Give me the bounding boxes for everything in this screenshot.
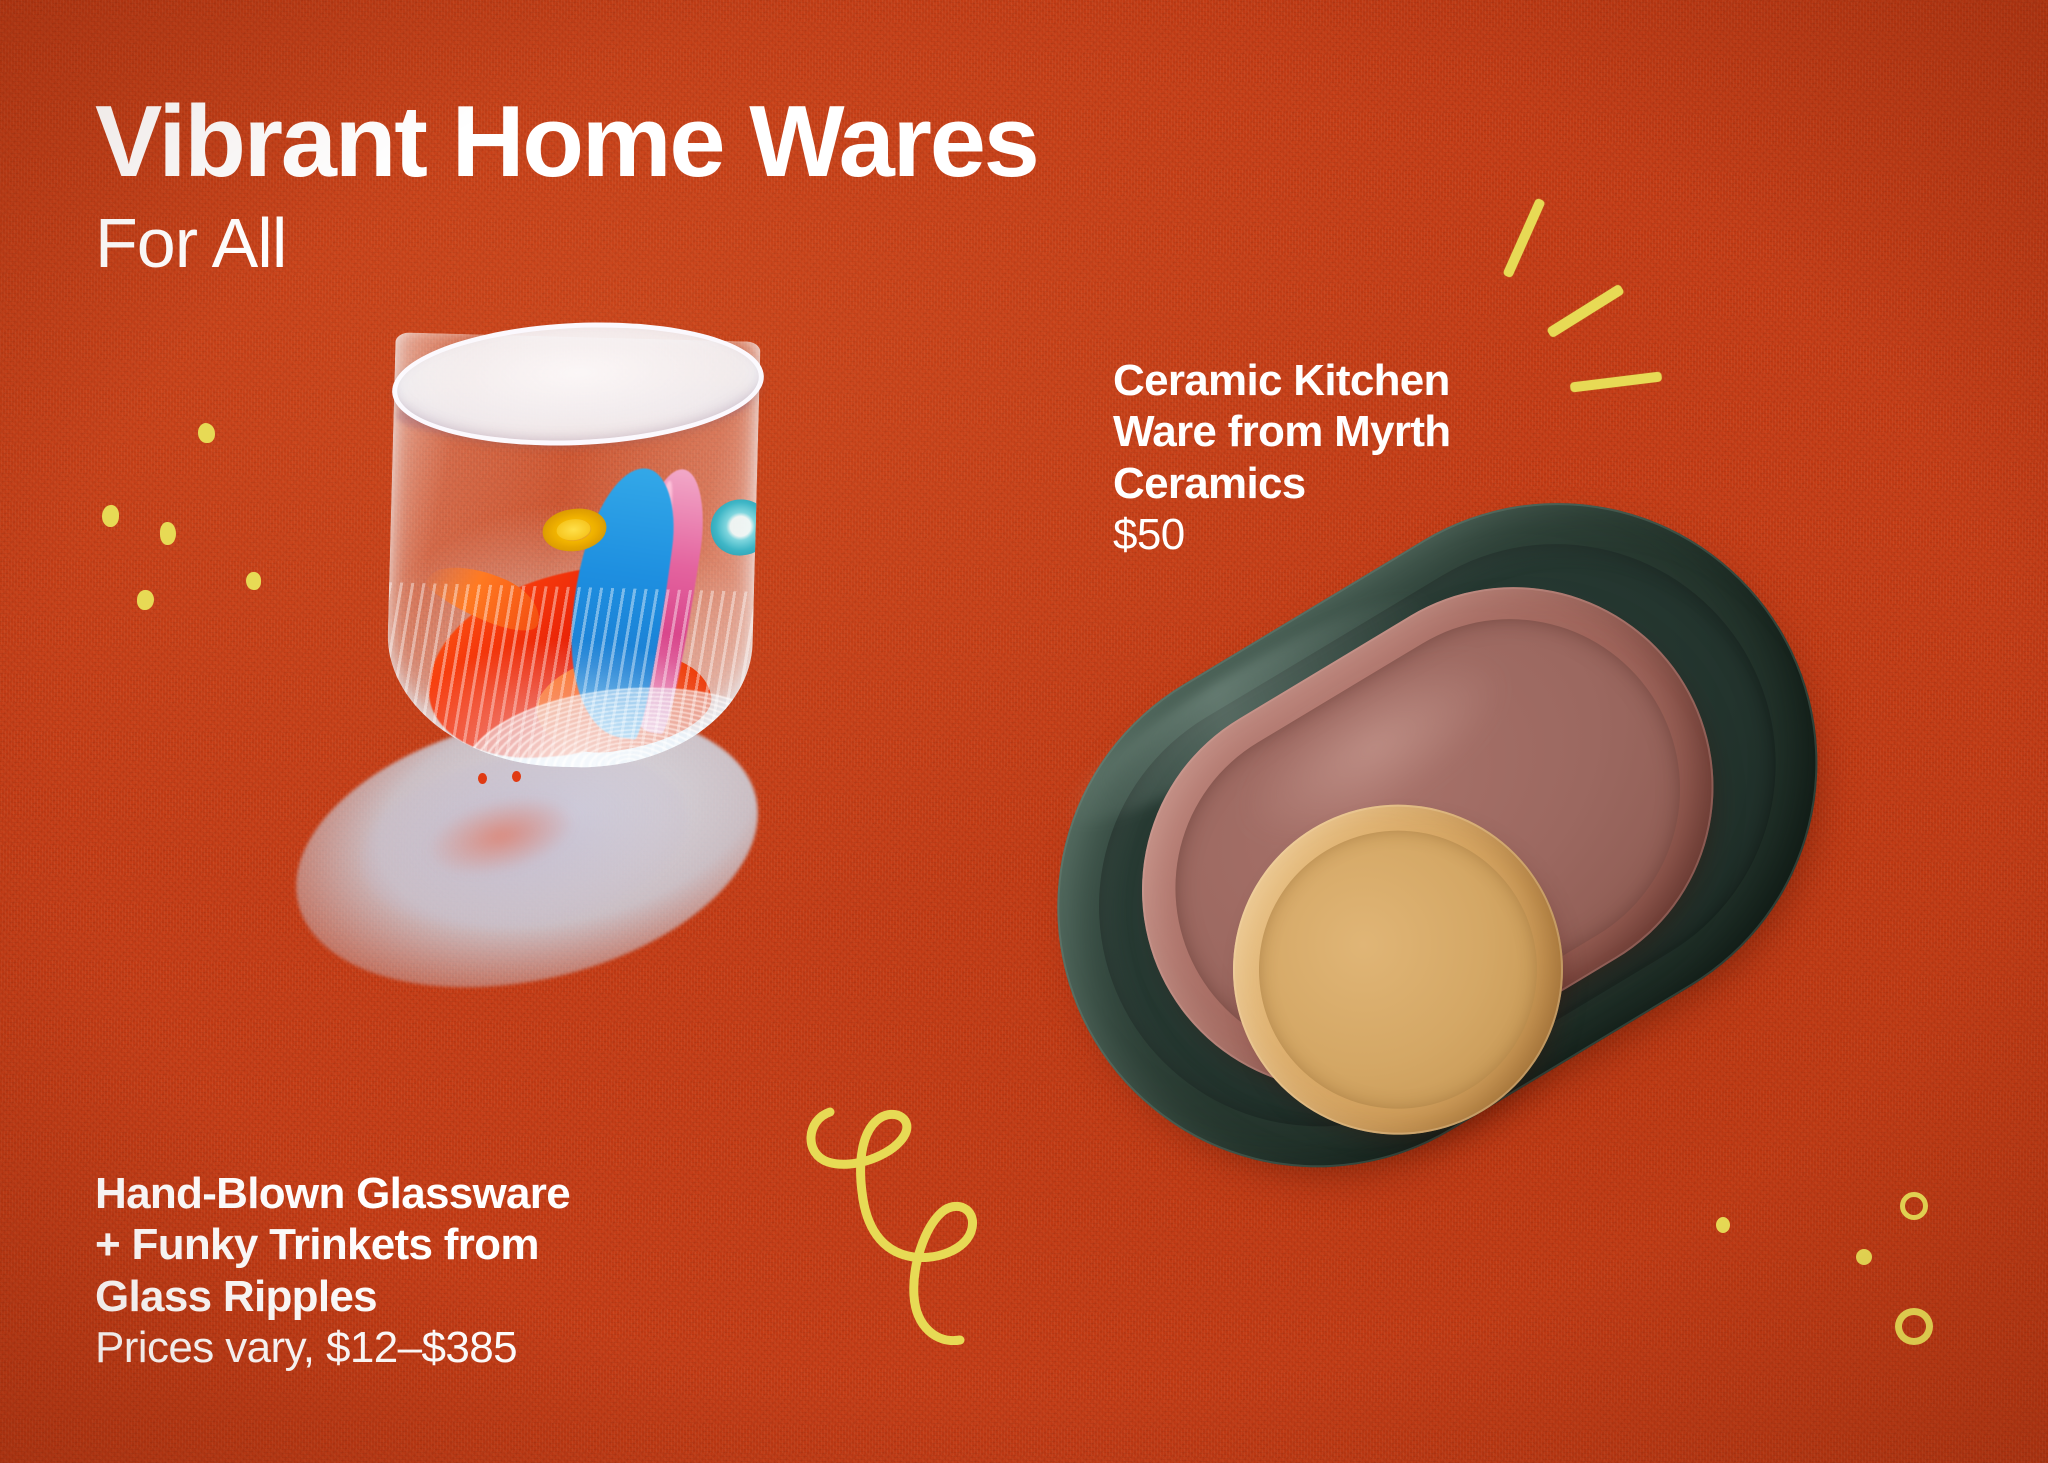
glass-inclusion-red [420,562,679,766]
glass-inclusion-teal [706,494,760,560]
page-title: Vibrant Home Wares [95,92,1038,193]
glass-speck-dot [478,773,487,784]
product-price-glassware: Prices vary, $12–$385 [95,1322,570,1373]
glass-bottom-rings [457,676,760,772]
glass-inclusion-red-tail [421,551,549,641]
poster-canvas: Vibrant Home Wares For All Ceramic Kitch… [0,0,2048,1463]
product-image-glassware [330,325,890,1125]
product-title-glassware: Hand-Blown Glassware + Funky Trinkets fr… [95,1168,570,1322]
product-caption-glassware: Hand-Blown Glassware + Funky Trinkets fr… [95,1168,570,1374]
glass-inclusion-blue [557,462,681,741]
page-subtitle: For All [95,208,286,278]
product-caption-ceramics: Ceramic Kitchen Ware from Myrth Ceramics… [1113,355,1450,561]
product-image-ceramics [905,316,2048,1463]
glass-inclusion-orange [530,642,717,762]
doodle-cursive-squiggle [800,1100,1060,1380]
glass-speck-dot [512,771,521,782]
product-price-ceramics: $50 [1113,509,1450,560]
product-title-ceramics: Ceramic Kitchen Ware from Myrth Ceramics [1113,355,1450,509]
